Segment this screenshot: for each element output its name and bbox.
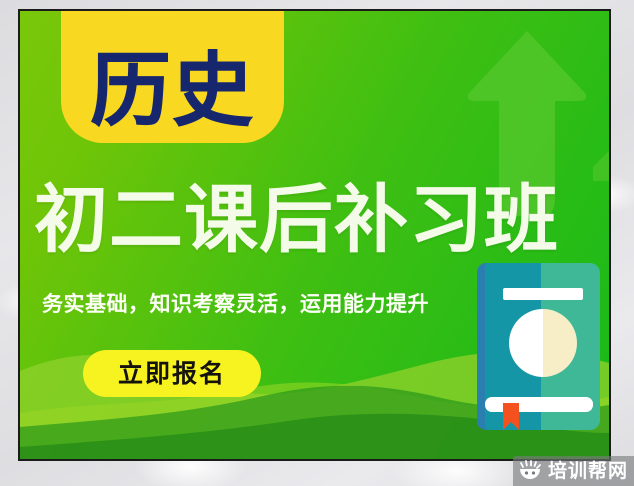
subject-badge: 历史 [61, 11, 284, 143]
enroll-now-button[interactable]: 立即报名 [83, 350, 261, 397]
book-illustration [477, 263, 602, 430]
poster-canvas: 历史 初二课后补习班 务实基础，知识考察灵活，运用能力提升 立即报名 [20, 11, 609, 459]
up-arrow-icon-small [593, 121, 609, 271]
subject-badge-label: 历史 [91, 51, 255, 131]
poster-headline: 初二课后补习班 [34, 183, 559, 257]
site-watermark: 培训帮网 [513, 456, 634, 486]
sun-face-icon [518, 460, 542, 482]
page-backdrop: 历史 初二课后补习班 务实基础，知识考察灵活，运用能力提升 立即报名 [0, 0, 634, 486]
enroll-now-button-label: 立即报名 [118, 361, 226, 386]
poster-subtitle: 务实基础，知识考察灵活，运用能力提升 [42, 292, 429, 317]
course-promo-poster: 历史 初二课后补习班 务实基础，知识考察灵活，运用能力提升 立即报名 [18, 9, 611, 461]
site-watermark-label: 培训帮网 [548, 462, 628, 481]
